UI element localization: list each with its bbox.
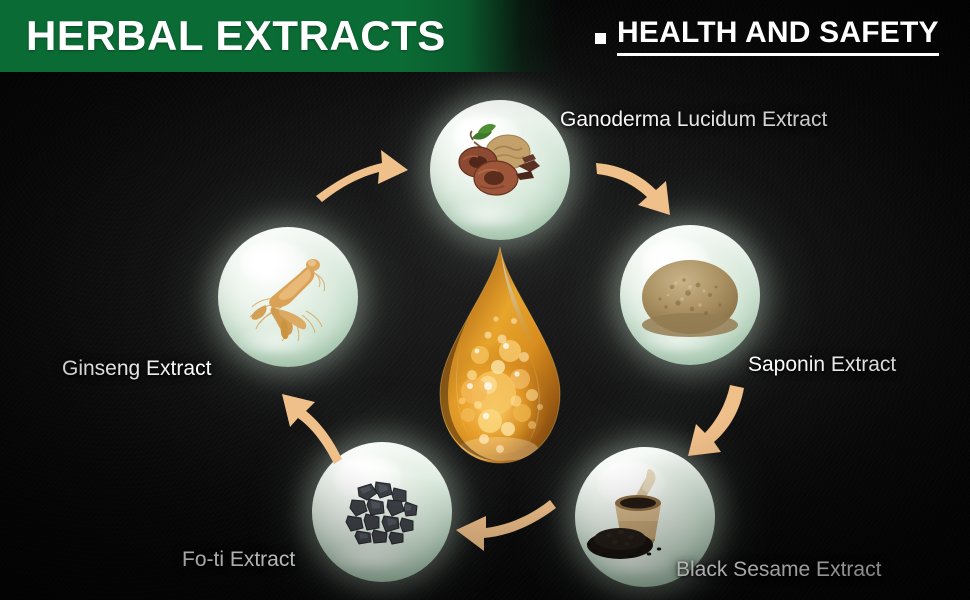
page-title: HERBAL EXTRACTS [26,12,446,60]
infographic-poster: Ganoderma Lucidum Extract [0,0,970,600]
square-bullet-icon [595,33,606,44]
header-subtitle: HEALTH AND SAFETY [617,17,939,56]
header-right-group: HEALTH AND SAFETY [595,17,939,56]
background-vignette [0,0,970,600]
